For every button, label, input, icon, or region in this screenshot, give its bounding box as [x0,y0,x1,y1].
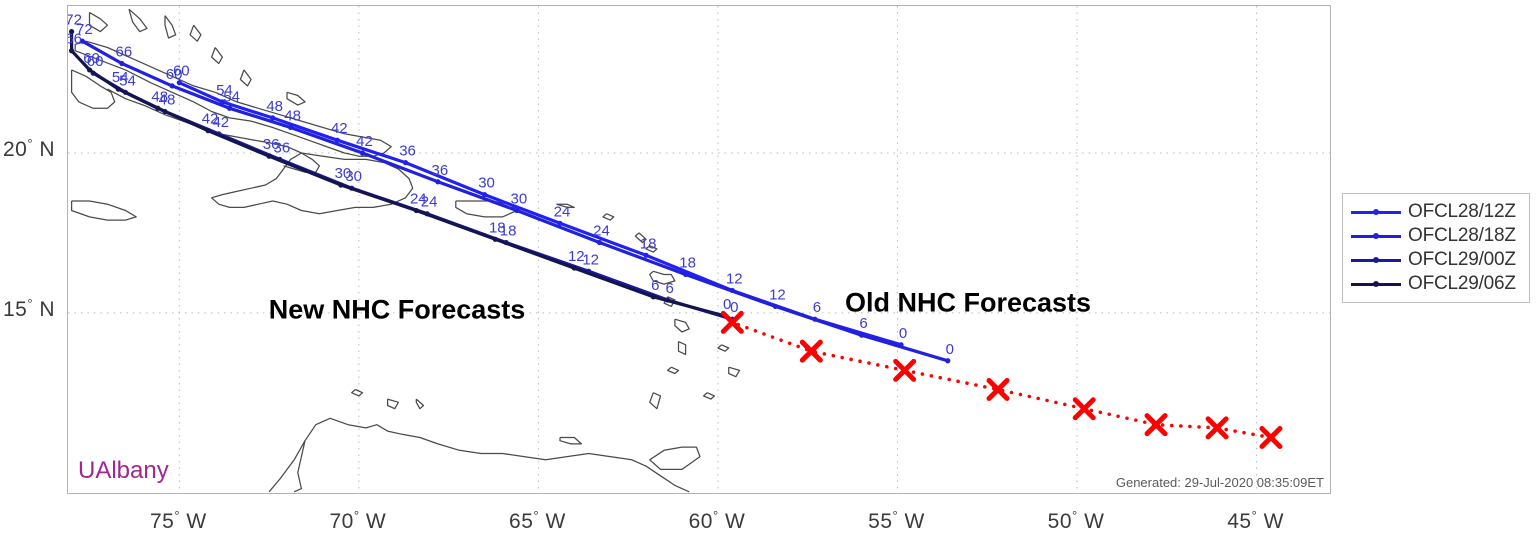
forecast-hour-label: 48 [284,107,301,124]
legend-line-swatch-icon [1351,229,1401,243]
forecast-hour-label: 30 [478,175,495,192]
forecast-position-marker [69,48,74,53]
forecast-hour-label: 42 [202,111,219,128]
forecast-tracks [69,29,1280,447]
coastline-path [352,390,363,396]
storm-track-figure: 0612182430364248546006121824303642485460… [0,0,1540,551]
coastline-path [650,393,661,409]
observed-position-x-marker [989,381,1007,399]
forecast-position-marker [572,265,577,270]
forecast-hour-label: 30 [511,191,528,208]
forecast-position-marker [651,294,656,299]
forecast-hour-label: 12 [568,248,585,265]
coastline-path [704,393,715,399]
forecast-hour-label: 60 [83,50,100,67]
legend-line-swatch-icon [1351,253,1401,267]
legend-entry-label: OFCL28/18Z [1408,225,1516,247]
forecast-hour-label: 0 [946,341,954,358]
x-axis-tick-label: 45° W [1227,510,1284,534]
observed-track-line [732,322,1271,437]
y-axis-tick-label: 20° N [3,138,55,162]
coastline-path [679,342,686,355]
forecast-hour-label: 60 [166,66,183,83]
coastline-path [718,345,729,351]
observed-position-x-marker [896,361,914,379]
coastline-path [560,438,582,444]
coastline-path [668,367,679,373]
coastline-path [603,214,614,220]
forecast-hour-label: 54 [223,88,240,105]
forecast-hour-label: 36 [399,143,416,160]
forecast-hour-label: 12 [726,270,743,287]
forecast-hour-label: 66 [116,44,133,61]
x-axis-tick-label: 65° W [509,510,566,534]
forecast-position-marker [360,150,365,155]
x-axis-tick-label: 60° W [689,510,746,534]
forecast-position-marker [597,240,602,245]
forecast-position-marker [493,237,498,242]
map-plot-area: 0612182430364248546006121824303642485460… [67,5,1331,494]
coastline-path [388,399,399,409]
forecast-hour-label: 24 [410,191,427,208]
coastline-path [729,367,740,377]
legend-entry-label: OFCL29/06Z [1408,273,1516,295]
legend-entry-label: OFCL28/12Z [1408,201,1516,223]
forecast-position-marker [338,182,343,187]
coastline-path [165,16,176,38]
forecast-position-marker [403,160,408,165]
forecast-hour-label: 6 [651,277,659,294]
legend-entry-label: OFCL29/00Z [1408,249,1516,271]
map-canvas: 0612182430364248546006121824303642485460… [68,6,1331,494]
forecast-position-marker [205,128,210,133]
coastline-path [240,70,251,86]
forecast-hour-label: 12 [582,251,599,268]
forecast-hour-label: 42 [356,133,373,150]
legend: OFCL28/12Z OFCL28/18Z OFCL29/00Z OFCL29/… [1342,193,1530,303]
forecast-position-marker [859,333,864,338]
forecast-hour-label: 48 [151,88,168,105]
forecast-hour-label: 36 [432,162,449,179]
forecast-position-marker [288,125,293,130]
y-axis-tick-label: 15° N [3,298,55,322]
observed-position-x-marker [1075,400,1093,418]
forecast-position-marker [683,272,688,277]
forecast-hour-label: 24 [554,203,571,220]
annotation-new-nhc-forecasts: New NHC Forecasts [269,295,526,326]
forecast-hour-label: 0 [899,325,907,342]
forecast-position-marker [773,304,778,309]
legend-entry[interactable]: OFCL29/00Z [1351,248,1521,272]
forecast-position-marker [644,253,649,258]
forecast-hour-label: 36 [263,136,280,153]
forecast-position-marker [227,106,232,111]
forecast-hour-label: 6 [813,299,821,316]
observed-position-x-marker [1208,419,1226,437]
forecast-position-marker [266,154,271,159]
forecast-position-marker [945,358,950,363]
coastline-path [416,399,423,409]
forecast-position-marker [514,208,519,213]
coastline-path [212,48,223,64]
coastline-path [675,319,689,332]
forecast-hour-label: 72 [68,12,82,29]
generated-timestamp: Generated: 29-Jul-2020 08:35:09ET [1116,475,1324,490]
gridlines [68,6,1331,494]
coastline-path [287,92,305,105]
forecast-hour-label: 18 [640,235,657,252]
forecast-hour-label: 30 [335,165,352,182]
x-axis-tick-label: 70° W [330,510,387,534]
forecast-position-marker [119,61,124,66]
x-axis-tick-label: 75° W [150,510,207,534]
forecast-hour-label: 54 [112,69,129,86]
coastline-path [190,25,201,41]
forecast-position-marker [170,83,175,88]
forecast-hour-label: 24 [593,223,610,240]
legend-entry[interactable]: OFCL28/18Z [1351,224,1521,248]
observed-position-x-marker [802,342,820,360]
legend-line-swatch-icon [1351,205,1401,219]
coastline-path [129,9,147,31]
x-axis-tick-label: 50° W [1048,510,1105,534]
forecast-hour-label: 66 [68,31,82,48]
coastline-path [650,447,700,469]
forecast-position-marker [435,179,440,184]
forecast-position-marker [414,208,419,213]
legend-entry[interactable]: OFCL29/06Z [1351,272,1521,296]
watermark-ualbany: UAlbany [78,457,169,485]
forecast-hour-label: 0 [723,296,731,313]
coastline-path [269,418,689,492]
forecast-hour-label: 42 [331,120,348,137]
observed-position-x-marker [1262,428,1280,446]
forecast-hour-label: 0 [730,299,738,316]
x-axis-tick-label: 55° W [868,510,925,534]
forecast-hour-label: 48 [266,98,283,115]
annotation-old-nhc-forecasts: Old NHC Forecasts [845,288,1091,319]
forecast-hour-label: 6 [666,280,674,297]
coastline-path [294,441,305,492]
legend-entry[interactable]: OFCL28/12Z [1351,200,1521,224]
forecast-hour-label: 18 [679,254,696,271]
forecast-hour-label: 12 [769,286,786,303]
coastline-path [72,201,137,220]
legend-line-swatch-icon [1351,277,1401,291]
forecast-hour-label: 18 [489,219,506,236]
